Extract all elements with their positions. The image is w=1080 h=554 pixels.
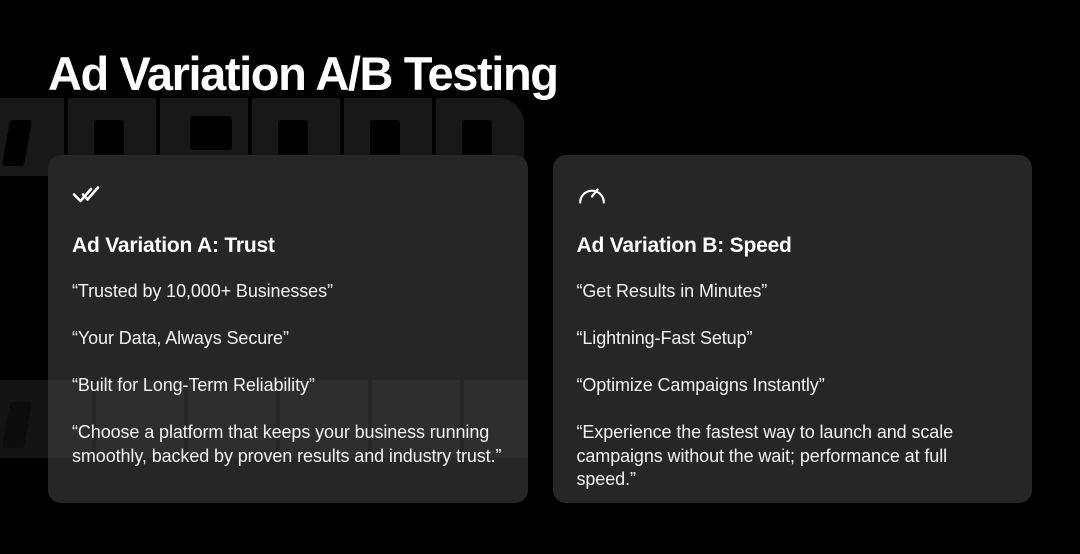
- card-a-title: Ad Variation A: Trust: [72, 233, 504, 258]
- double-check-icon: [72, 181, 102, 207]
- card-b-summary: “Experience the fastest way to launch an…: [577, 421, 1009, 491]
- ad-variation-card-b: Ad Variation B: Speed “Get Results in Mi…: [553, 155, 1033, 503]
- card-b-line-3: “Optimize Campaigns Instantly”: [577, 374, 1009, 397]
- card-b-title: Ad Variation B: Speed: [577, 233, 1009, 258]
- card-a-line-3: “Built for Long-Term Reliability”: [72, 374, 504, 397]
- page-title: Ad Variation A/B Testing: [48, 48, 558, 100]
- ad-variation-card-grid: Ad Variation A: Trust “Trusted by 10,000…: [48, 155, 1032, 503]
- gauge-icon: [577, 181, 607, 207]
- card-b-line-1: “Get Results in Minutes”: [577, 280, 1009, 303]
- card-a-summary: “Choose a platform that keeps your busin…: [72, 421, 504, 468]
- card-a-line-1: “Trusted by 10,000+ Businesses”: [72, 280, 504, 303]
- ad-variation-card-a: Ad Variation A: Trust “Trusted by 10,000…: [48, 155, 528, 503]
- card-a-line-2: “Your Data, Always Secure”: [72, 327, 504, 350]
- card-b-line-2: “Lightning-Fast Setup”: [577, 327, 1009, 350]
